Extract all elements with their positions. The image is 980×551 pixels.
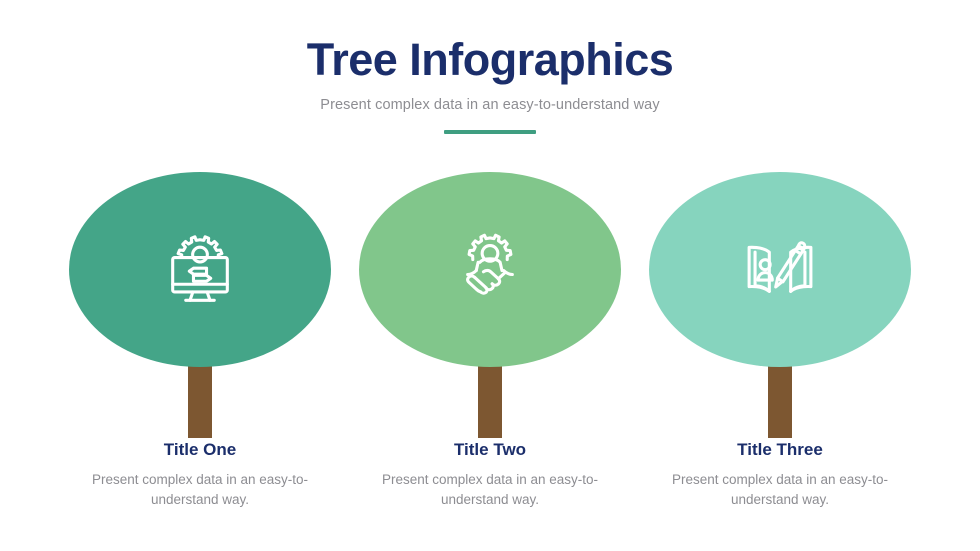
- tree-canopy: [359, 172, 621, 367]
- page-subtitle: Present complex data in an easy-to-under…: [0, 97, 980, 114]
- tree-item-three[interactable]: [635, 170, 925, 440]
- tree-item-one[interactable]: [55, 170, 345, 440]
- tree-canopy: [69, 172, 331, 367]
- tree-graphics-row: [0, 170, 980, 440]
- slide-header: Tree Infographics Present complex data i…: [0, 36, 980, 134]
- tree-item-two[interactable]: [345, 170, 635, 440]
- tree-canopy: [649, 172, 911, 367]
- caption-description: Present complex data in an easy-to-under…: [662, 470, 898, 509]
- caption-item-one: Title One Present complex data in an eas…: [55, 440, 345, 510]
- monitor-gear-exchange-icon: [162, 232, 238, 308]
- caption-title: Title Two: [353, 440, 627, 460]
- captions-row: Title One Present complex data in an eas…: [0, 440, 980, 510]
- open-book-person-pencil-icon: [742, 232, 818, 308]
- caption-title: Title One: [63, 440, 337, 460]
- caption-item-two: Title Two Present complex data in an eas…: [345, 440, 635, 510]
- caption-description: Present complex data in an easy-to-under…: [372, 470, 608, 509]
- caption-item-three: Title Three Present complex data in an e…: [635, 440, 925, 510]
- page-title: Tree Infographics: [0, 36, 980, 85]
- caption-title: Title Three: [643, 440, 917, 460]
- caption-description: Present complex data in an easy-to-under…: [82, 470, 318, 509]
- infographic-slide: Tree Infographics Present complex data i…: [0, 0, 980, 551]
- accent-divider: [444, 130, 536, 134]
- handshake-gear-person-icon: [452, 232, 528, 308]
